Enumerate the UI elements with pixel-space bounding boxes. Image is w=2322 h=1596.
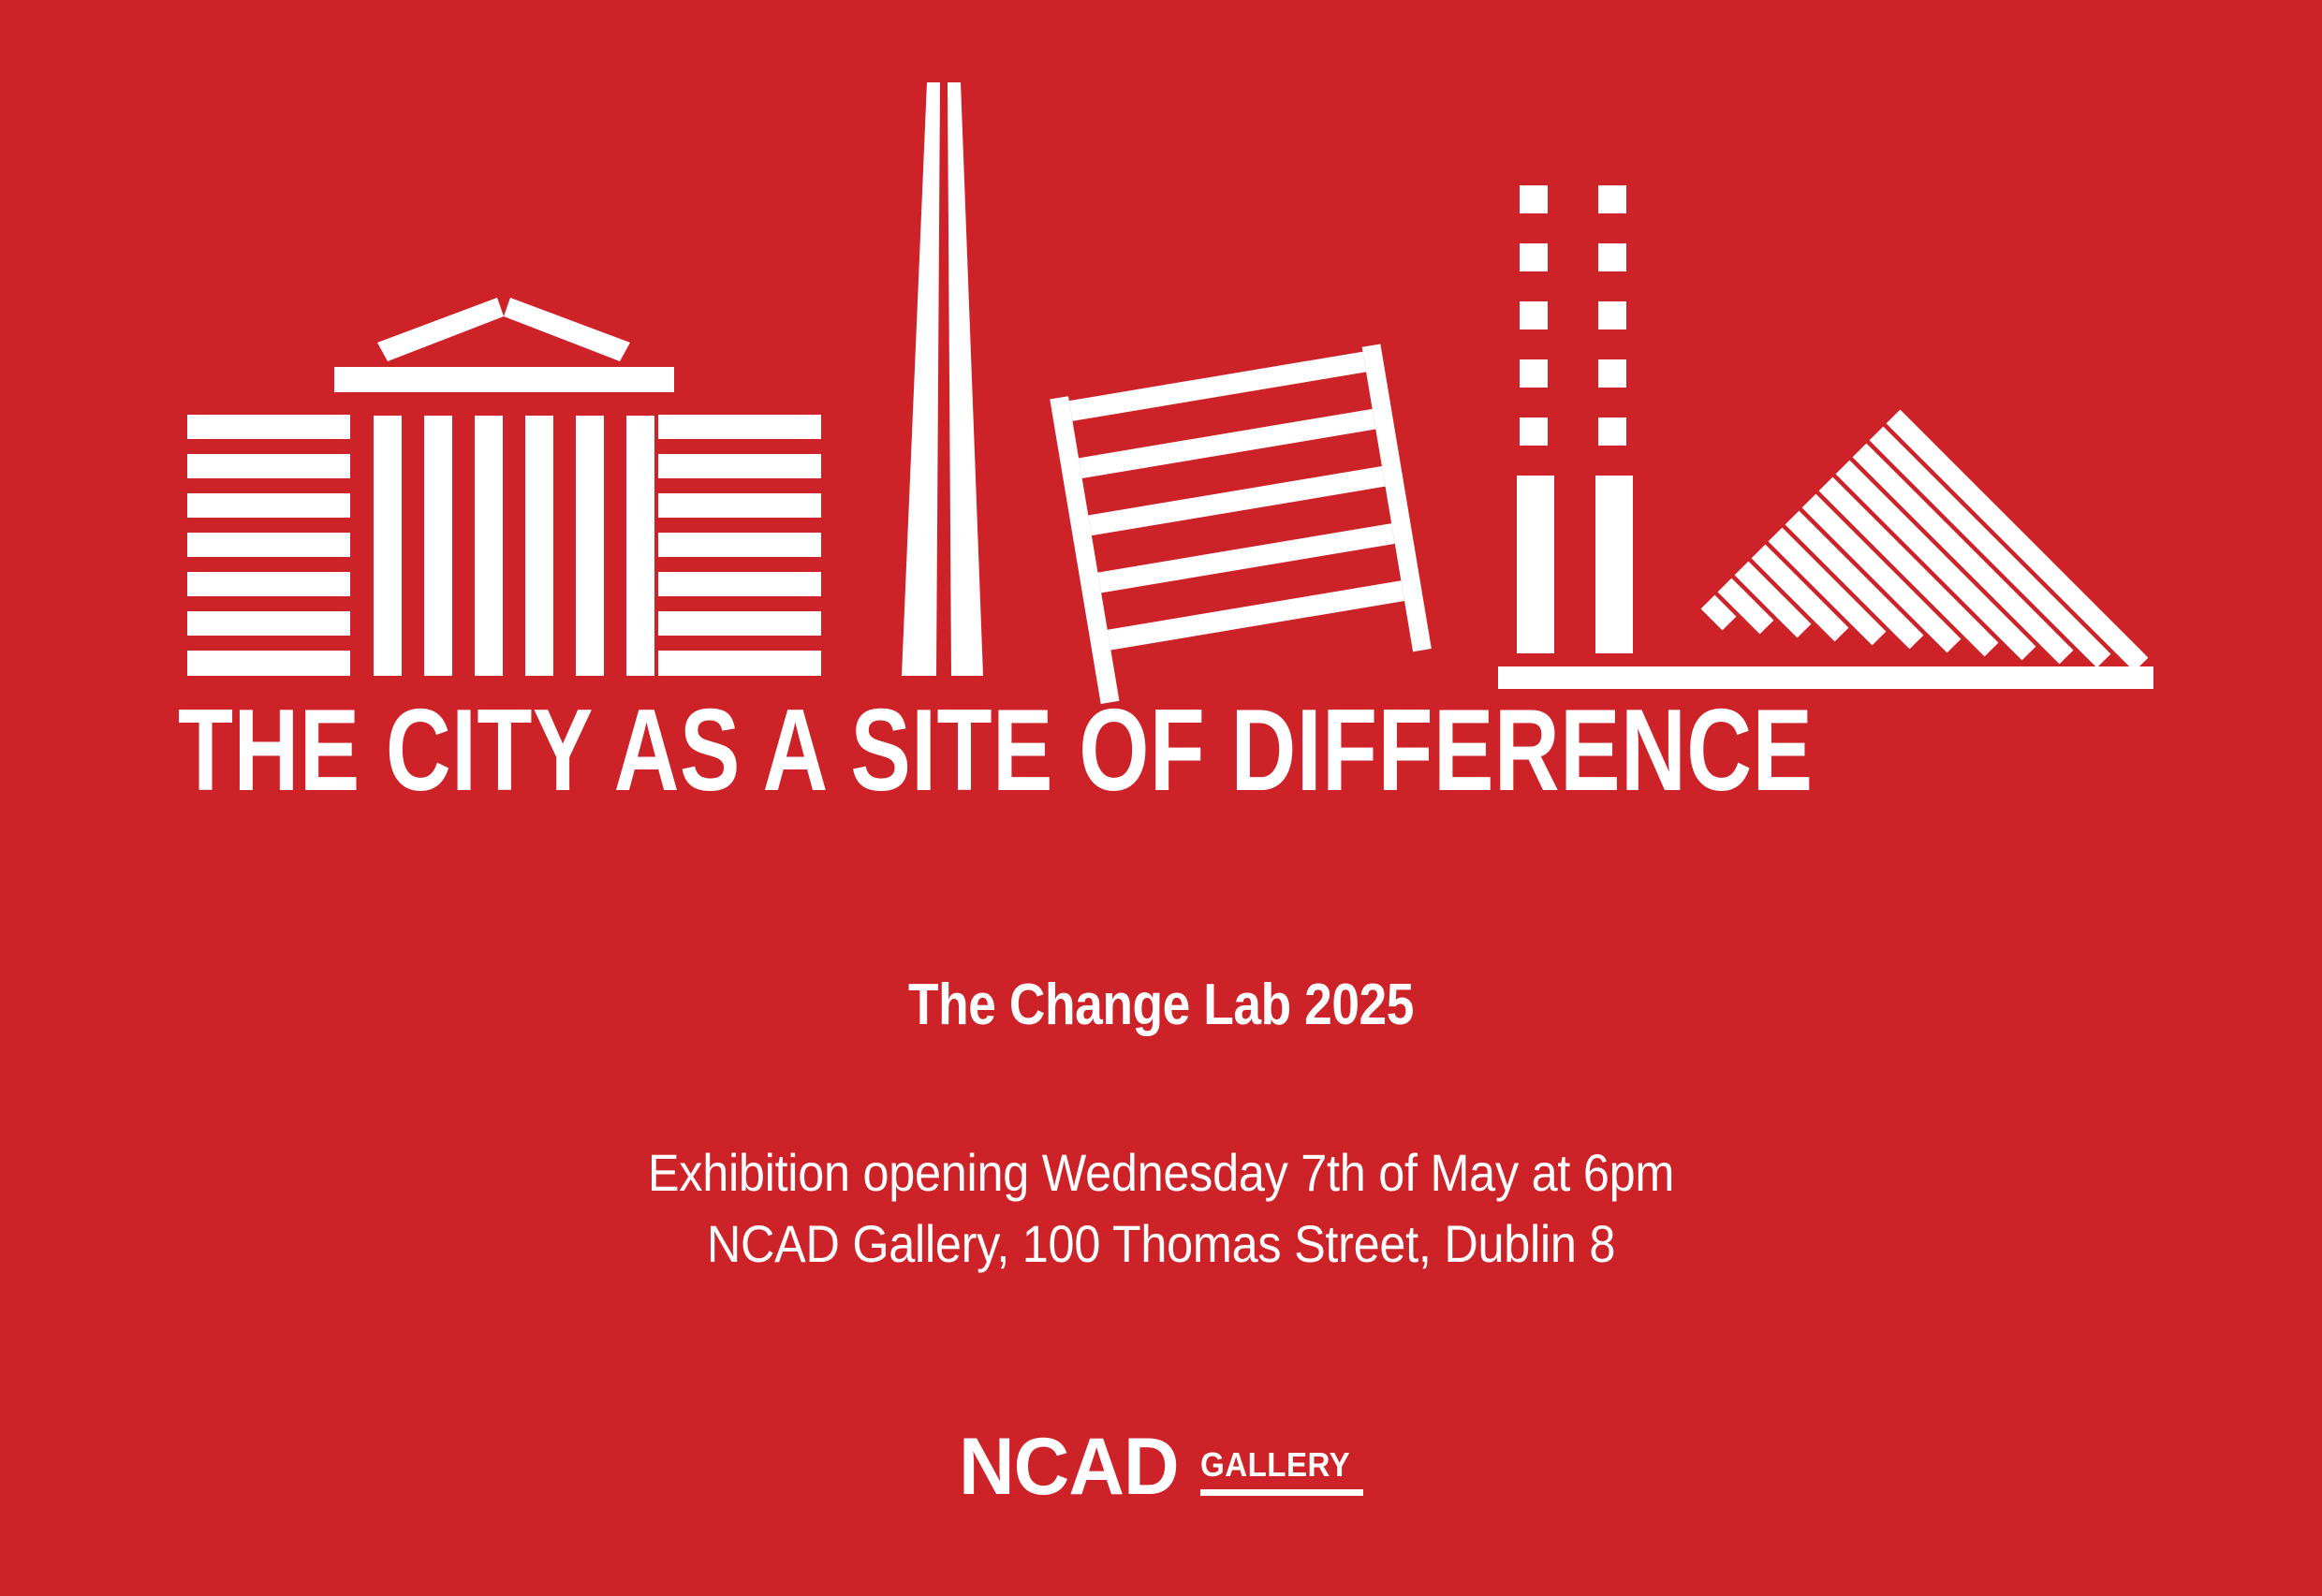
spire-left-edge-icon bbox=[902, 82, 940, 676]
neoclassical-building-icon bbox=[187, 298, 821, 676]
left-wing-band-icon bbox=[187, 611, 350, 636]
chimney-window-icon bbox=[1520, 243, 1548, 271]
left-wing-band-icon bbox=[187, 533, 350, 557]
chimney-window-icon bbox=[1520, 359, 1548, 388]
column-icon bbox=[525, 416, 553, 676]
event-details: Exhibition opening Wednesday 7th of May … bbox=[116, 1137, 2206, 1280]
hill-stripe-icon bbox=[1708, 602, 1729, 623]
right-wing-band-icon bbox=[658, 493, 821, 518]
left-wing-band-icon bbox=[187, 493, 350, 518]
pediment-left-rake-icon bbox=[377, 298, 504, 361]
event-subtitle: The Change Lab 2025 bbox=[163, 972, 2160, 1039]
spire-icon bbox=[902, 82, 983, 676]
pediment-right-rake-icon bbox=[504, 298, 630, 361]
column-icon bbox=[424, 416, 452, 676]
right-wing-band-icon bbox=[658, 611, 821, 636]
event-details-line-venue: NCAD Gallery, 100 Thomas Street, Dublin … bbox=[116, 1208, 2206, 1280]
ladder-rung-icon bbox=[1088, 466, 1385, 535]
spire-right-edge-icon bbox=[948, 82, 983, 676]
chimney-window-icon bbox=[1598, 301, 1626, 329]
striped-triangle-hill-icon bbox=[1708, 417, 2141, 665]
right-wing-band-icon bbox=[658, 533, 821, 557]
event-details-line-opening: Exhibition opening Wednesday 7th of May … bbox=[116, 1137, 2206, 1208]
chimney-shaft-icon bbox=[1517, 476, 1554, 653]
left-wing-band-icon bbox=[187, 572, 350, 596]
ladder-rung-icon bbox=[1108, 580, 1404, 650]
architrave-bar-icon bbox=[334, 367, 674, 392]
left-wing-band-icon bbox=[187, 651, 350, 676]
chimney-window-icon bbox=[1598, 185, 1626, 213]
right-wing-band-icon bbox=[658, 454, 821, 478]
ladder-rung-icon bbox=[1069, 352, 1366, 421]
chimney-window-icon bbox=[1598, 417, 1626, 446]
right-wing-band-icon bbox=[658, 415, 821, 439]
ladder-left-rail-icon bbox=[1050, 396, 1119, 704]
logo-ncad-wordmark: NCAD bbox=[959, 1427, 1179, 1507]
ncad-gallery-logo: NCAD GALLERY bbox=[0, 1404, 2322, 1507]
chimney-window-icon bbox=[1520, 417, 1548, 446]
logo-gallery-wordmark: GALLERY bbox=[1200, 1447, 1350, 1483]
chimney-window-icon bbox=[1520, 301, 1548, 329]
left-wing-band-icon bbox=[187, 454, 350, 478]
page-title: THE CITY AS A SITE OF DIFFERENCE bbox=[178, 695, 1730, 807]
column-icon bbox=[626, 416, 654, 676]
left-wing-band-icon bbox=[187, 415, 350, 439]
logo-gallery-block: GALLERY bbox=[1200, 1447, 1363, 1507]
poster-canvas: THE CITY AS A SITE OF DIFFERENCE The Cha… bbox=[0, 0, 2322, 1596]
logo-gallery-underline-icon bbox=[1200, 1489, 1363, 1496]
chimney-shaft-icon bbox=[1595, 476, 1633, 653]
column-icon bbox=[576, 416, 604, 676]
tilted-ladder-building-icon bbox=[1050, 344, 1432, 704]
chimney-window-icon bbox=[1520, 185, 1548, 213]
chimney-window-icon bbox=[1598, 359, 1626, 388]
column-icon bbox=[475, 416, 503, 676]
twin-chimney-towers-icon bbox=[1517, 185, 1633, 653]
right-wing-band-icon bbox=[658, 572, 821, 596]
ladder-rung-icon bbox=[1079, 409, 1375, 478]
ladder-rung-icon bbox=[1098, 523, 1395, 593]
right-wing-band-icon bbox=[658, 651, 821, 676]
chimney-window-icon bbox=[1598, 243, 1626, 271]
dublin-skyline-illustration bbox=[0, 0, 2322, 711]
column-icon bbox=[374, 416, 402, 676]
